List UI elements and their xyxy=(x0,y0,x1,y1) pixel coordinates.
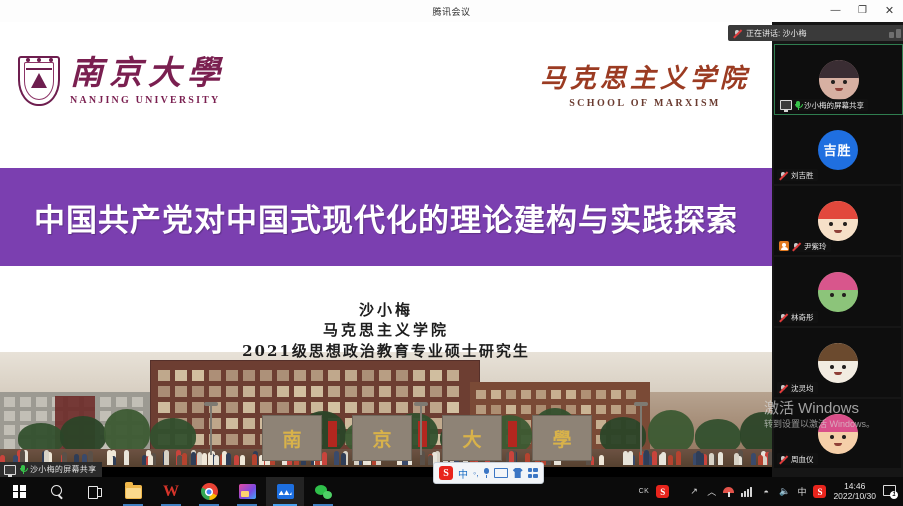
mic-muted-icon xyxy=(779,455,788,464)
presentation-slide: 南京大學 NANJING UNIVERSITY 马克思主义学院 SCHOOL O… xyxy=(0,22,772,467)
search-button[interactable] xyxy=(38,477,76,506)
minimize-button[interactable]: — xyxy=(822,0,849,22)
participant-tile-0[interactable]: 沙小梅的屏幕共享 xyxy=(774,44,903,115)
soft-keyboard-icon[interactable] xyxy=(494,468,508,478)
speaking-indicator: 正在讲话: 沙小梅 xyxy=(728,25,903,41)
slide-title: 中国共产党对中国式现代化的理论建构与实践探索 xyxy=(34,195,738,240)
participant-name-bar: 尹紫玲 xyxy=(777,240,831,252)
participant-name-bar: 沈灵均 xyxy=(777,382,818,394)
participant-name: 刘吉胜 xyxy=(791,170,814,181)
school-of-marxism-logo: 马克思主义学院 SCHOOL OF MARXISM xyxy=(540,66,750,109)
skin-icon[interactable] xyxy=(513,468,523,478)
tencent-meeting-window: 腾讯会议 — ❐ ✕ xyxy=(0,0,903,506)
language-icon[interactable]: 中 xyxy=(797,485,806,498)
system-tray: CK S ↗ ︿ ◓ 🔈 中 S 14:46 2022/10/30 1 xyxy=(639,477,903,506)
punctuation-icon[interactable]: ◦, xyxy=(473,468,479,478)
wechat-button[interactable] xyxy=(304,477,342,506)
clock[interactable]: 14:46 2022/10/30 xyxy=(833,482,876,502)
speaking-label: 正在讲话: 沙小梅 xyxy=(746,28,806,39)
umbrella-icon[interactable] xyxy=(723,486,734,497)
host-icon xyxy=(779,241,789,251)
sogou-ime-toolbar[interactable]: S 中 ◦, xyxy=(433,462,544,484)
mic-muted-icon xyxy=(779,313,788,322)
window-controls: — ❐ ✕ xyxy=(822,0,903,22)
sogou-icon[interactable]: S xyxy=(813,485,826,498)
shared-screen-stage[interactable]: 南京大學 NANJING UNIVERSITY 马克思主义学院 SCHOOL O… xyxy=(0,22,772,477)
wechat-icon xyxy=(315,484,332,499)
participant-name: 沈灵均 xyxy=(791,383,814,394)
toolbox-icon[interactable] xyxy=(528,468,538,478)
taskbar-apps: W xyxy=(0,477,342,506)
task-view-button[interactable] xyxy=(76,477,114,506)
folder-icon xyxy=(125,485,142,499)
participant-tile-3[interactable]: 林奇彤 xyxy=(774,257,901,326)
mic-muted-icon xyxy=(779,171,788,180)
participant-tile-2[interactable]: 尹紫玲 xyxy=(774,186,901,255)
presenter-program: 2021级思想政治教育专业硕士研究生 xyxy=(0,341,772,361)
screen-share-status: 沙小梅的屏幕共享 xyxy=(0,462,102,477)
wps-icon: W xyxy=(163,484,179,500)
participant-name-bar: 林奇彤 xyxy=(777,311,818,323)
avatar xyxy=(818,201,858,241)
task-view-icon xyxy=(88,486,102,497)
photos-icon xyxy=(239,484,256,499)
stone-block-3: 大 xyxy=(442,415,502,461)
audio-wave-icon xyxy=(889,29,903,38)
university-name-cn: 南京大學 xyxy=(70,58,226,91)
window-title-bar: 腾讯会议 — ❐ ✕ xyxy=(0,0,903,22)
screen-share-icon xyxy=(4,465,16,475)
chrome-button[interactable] xyxy=(190,477,228,506)
screen-share-label: 沙小梅的屏幕共享 xyxy=(30,464,96,475)
clock-date: 2022/10/30 xyxy=(833,492,876,502)
meeting-body: 南京大學 NANJING UNIVERSITY 马克思主义学院 SCHOOL O… xyxy=(0,22,903,477)
slide-header-logos: 南京大學 NANJING UNIVERSITY 马克思主义学院 SCHOOL O… xyxy=(0,22,772,152)
mic-muted-icon xyxy=(792,242,801,251)
ime-ck-icon[interactable]: CK xyxy=(639,488,650,495)
sogou-logo-icon[interactable]: S xyxy=(439,466,453,480)
avatar-initials: 吉胜 xyxy=(823,140,851,159)
screen-share-icon xyxy=(780,100,792,110)
notification-badge: 1 xyxy=(890,491,898,499)
tencent-meeting-button[interactable] xyxy=(266,477,304,506)
start-button[interactable] xyxy=(0,477,38,506)
slide-title-band: 中国共产党对中国式现代化的理论建构与实践探索 xyxy=(0,168,772,266)
wps-office-button[interactable]: W xyxy=(152,477,190,506)
mic-on-icon xyxy=(795,101,801,110)
participant-tile-1[interactable]: 吉胜 刘吉胜 xyxy=(774,115,901,184)
notification-center-icon[interactable]: 1 xyxy=(883,485,897,498)
presenter-department: 马克思主义学院 xyxy=(0,320,772,340)
voice-input-icon[interactable] xyxy=(484,468,489,478)
chinese-mode-icon[interactable]: 中 xyxy=(458,466,468,481)
mic-muted-icon xyxy=(733,29,742,38)
participant-name: 林奇彤 xyxy=(791,312,814,323)
participant-tile-5[interactable]: 周血仪 xyxy=(774,399,901,468)
participant-name-bar: 沙小梅的屏幕共享 xyxy=(778,99,868,111)
avatar: 吉胜 xyxy=(818,130,858,170)
university-crest-icon xyxy=(18,56,60,106)
stone-block-4: 學 xyxy=(532,415,592,461)
participant-name: 沙小梅的屏幕共享 xyxy=(804,100,864,111)
volume-icon[interactable]: 🔈 xyxy=(779,486,790,497)
participant-name-bar: 周血仪 xyxy=(777,453,818,465)
window-title: 腾讯会议 xyxy=(432,5,470,18)
mic-muted-icon xyxy=(779,384,788,393)
presenter-name: 沙小梅 xyxy=(0,300,772,320)
participant-name: 周血仪 xyxy=(791,454,814,465)
campus-photo: 南 京 大 學 xyxy=(0,352,772,467)
participant-name: 尹紫玲 xyxy=(804,241,827,252)
search-icon xyxy=(51,485,64,498)
avatar xyxy=(818,343,858,383)
file-explorer-button[interactable] xyxy=(114,477,152,506)
avatar xyxy=(818,272,858,312)
avatar xyxy=(818,414,858,454)
tencent-meeting-icon xyxy=(277,484,294,499)
participant-tile-4[interactable]: 沈灵均 xyxy=(774,328,901,397)
chrome-icon xyxy=(201,483,218,500)
participant-rail[interactable]: 正在讲话: 沙小梅 沙小梅的屏幕共享 xyxy=(772,22,903,477)
onedrive-icon[interactable]: ↗ xyxy=(688,486,700,498)
wifi-icon[interactable]: ◓ xyxy=(760,486,772,498)
network-icon[interactable] xyxy=(741,487,753,497)
presenter-info: 沙小梅 马克思主义学院 2021级思想政治教育专业硕士研究生 xyxy=(0,300,772,361)
school-name-cn: 马克思主义学院 xyxy=(540,66,750,92)
avatar xyxy=(819,60,859,100)
close-button[interactable]: ✕ xyxy=(876,0,903,22)
university-name-en: NANJING UNIVERSITY xyxy=(70,95,226,106)
show-hidden-icons-icon[interactable]: ︿ xyxy=(707,485,716,498)
nanjing-university-logo: 南京大學 NANJING UNIVERSITY xyxy=(18,56,226,106)
school-name-en: SCHOOL OF MARXISM xyxy=(540,98,750,109)
maximize-button[interactable]: ❐ xyxy=(849,0,876,22)
photos-button[interactable] xyxy=(228,477,266,506)
participant-name-bar: 刘吉胜 xyxy=(777,169,818,181)
stone-block-2: 京 xyxy=(352,415,412,461)
stone-block-1: 南 xyxy=(262,415,322,461)
mic-on-icon xyxy=(20,465,26,474)
windows-logo-icon xyxy=(13,485,26,498)
sogou-tray-icon[interactable]: S xyxy=(656,485,669,498)
campus-stone-monument: 南 京 大 學 xyxy=(262,417,592,461)
